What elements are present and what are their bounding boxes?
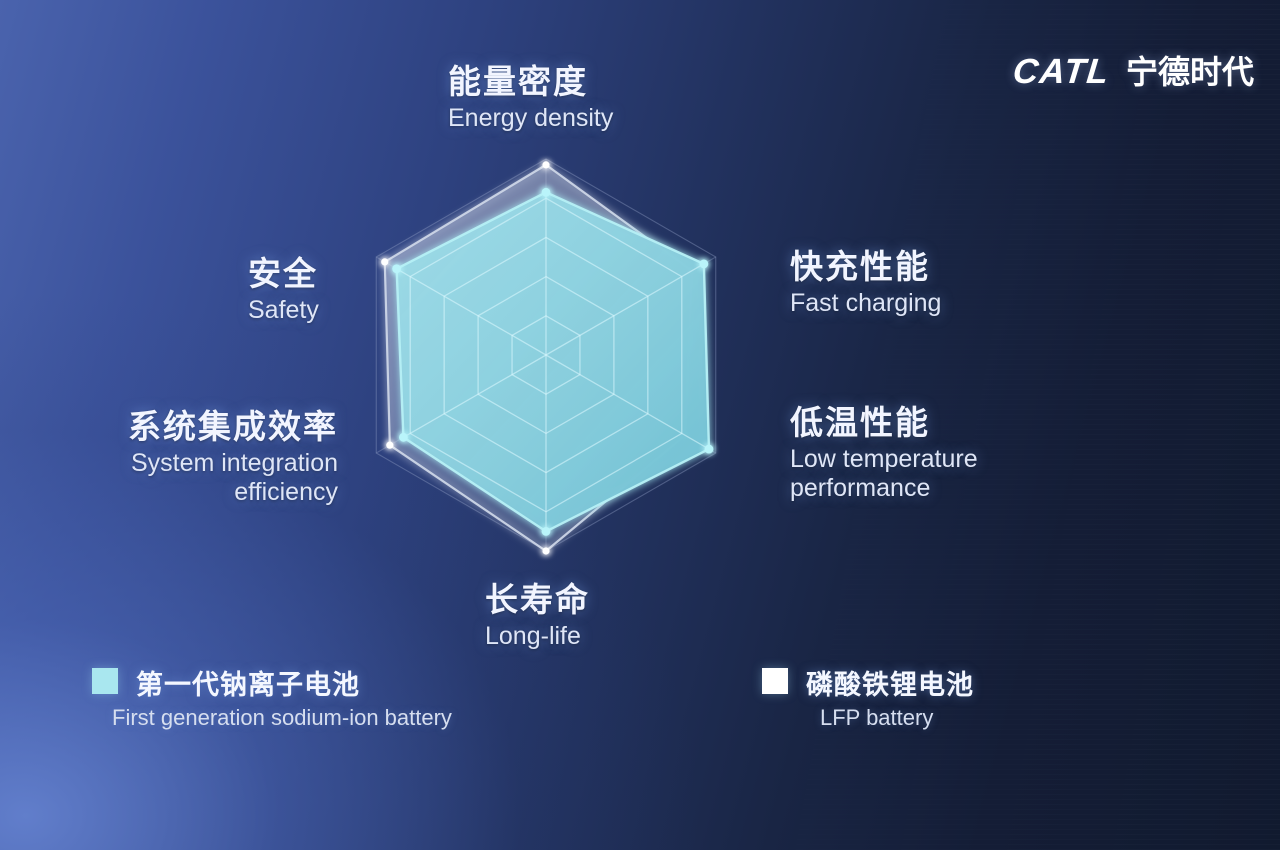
legend-swatch-sodium-ion — [92, 668, 118, 694]
axis-label-system-integration: 系统集成效率 System integration efficiency — [76, 408, 338, 508]
axis-label-safety: 安全 Safety — [248, 255, 319, 325]
axis-label-long-life-en: Long-life — [485, 622, 590, 652]
axis-label-safety-en: Safety — [248, 296, 319, 326]
axis-label-fast-charging: 快充性能 Fast charging — [790, 248, 941, 318]
radar-point-lfp — [542, 161, 549, 168]
axis-label-system-integration-cn: 系统集成效率 — [76, 408, 338, 447]
axis-label-long-life-cn: 长寿命 — [485, 581, 590, 620]
axis-label-low-temperature: 低温性能 Low temperature performance — [790, 404, 1030, 504]
slide-root: CATL 宁德时代 — [0, 0, 1280, 850]
radar-point-sodium — [392, 264, 401, 273]
radar-point-sodium — [399, 433, 408, 442]
axis-label-low-temperature-en: Low temperature performance — [790, 445, 1030, 504]
legend-label-lfp-cn: 磷酸铁锂电池 — [806, 663, 974, 702]
axis-label-safety-cn: 安全 — [248, 255, 319, 294]
radar-point-lfp — [542, 547, 549, 554]
radar-chart-svg — [246, 55, 846, 655]
axis-label-energy-density: 能量密度 Energy density — [448, 63, 613, 133]
axis-label-fast-charging-cn: 快充性能 — [790, 248, 941, 287]
legend-item-sodium-ion: 第一代钠离子电池 First generation sodium-ion bat… — [92, 663, 452, 731]
axis-label-energy-density-en: Energy density — [448, 104, 613, 134]
radar-point-sodium — [705, 445, 714, 454]
axis-label-long-life: 长寿命 Long-life — [485, 581, 590, 651]
axis-label-energy-density-cn: 能量密度 — [448, 63, 613, 102]
legend-label-sodium-ion-cn: 第一代钠离子电池 — [136, 663, 452, 702]
legend-label-lfp-en: LFP battery — [820, 705, 974, 731]
legend-label-lfp: 磷酸铁锂电池 LFP battery — [806, 663, 974, 731]
radar-point-sodium — [542, 188, 551, 197]
axis-label-system-integration-en: System integration efficiency — [76, 449, 338, 508]
radar-point-sodium — [542, 527, 551, 536]
radar-point-lfp — [386, 442, 393, 449]
legend-swatch-lfp — [762, 668, 788, 694]
legend-label-sodium-ion-en: First generation sodium-ion battery — [112, 705, 452, 731]
radar-point-sodium — [699, 259, 708, 268]
axis-label-low-temperature-cn: 低温性能 — [790, 404, 1030, 443]
radar-point-lfp — [381, 258, 388, 265]
legend-item-lfp: 磷酸铁锂电池 LFP battery — [762, 663, 974, 731]
legend-label-sodium-ion: 第一代钠离子电池 First generation sodium-ion bat… — [136, 663, 452, 731]
axis-label-fast-charging-en: Fast charging — [790, 289, 941, 319]
